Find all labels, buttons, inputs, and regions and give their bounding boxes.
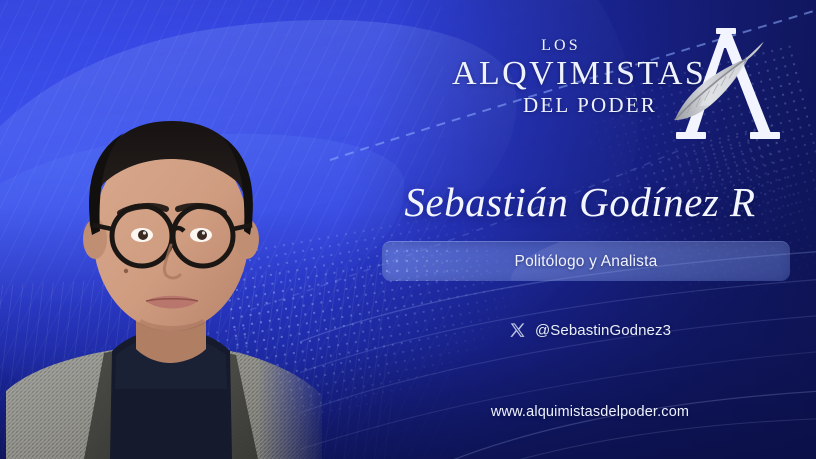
brand-logo: LOS ALQVIMISTAS DEL PODER — [452, 28, 792, 148]
brand-line-3: DEL PODER — [452, 93, 670, 118]
x-twitter-icon — [509, 322, 526, 339]
website-url[interactable]: www.alquimistasdelpoder.com — [400, 404, 780, 420]
brand-line-1: LOS — [452, 38, 670, 54]
social-handle-text: @SebastinGodnez3 — [535, 322, 671, 339]
speaker-role-text: Politólogo y Analista — [515, 253, 658, 271]
speaker-role-bar: Politólogo y Analista — [382, 241, 790, 281]
title-card: LOS ALQVIMISTAS DEL PODER — [0, 0, 816, 459]
brand-wordmark: LOS ALQVIMISTAS DEL PODER — [452, 38, 670, 118]
a-monogram-with-feather-icon — [664, 24, 790, 150]
speaker-portrait — [0, 39, 330, 459]
speaker-name: Sebastián Godínez R — [360, 178, 800, 226]
brand-line-2: ALQVIMISTAS — [452, 54, 670, 93]
role-bar-dot-texture — [382, 241, 512, 281]
social-handle[interactable]: @SebastinGodnez3 — [420, 322, 760, 339]
